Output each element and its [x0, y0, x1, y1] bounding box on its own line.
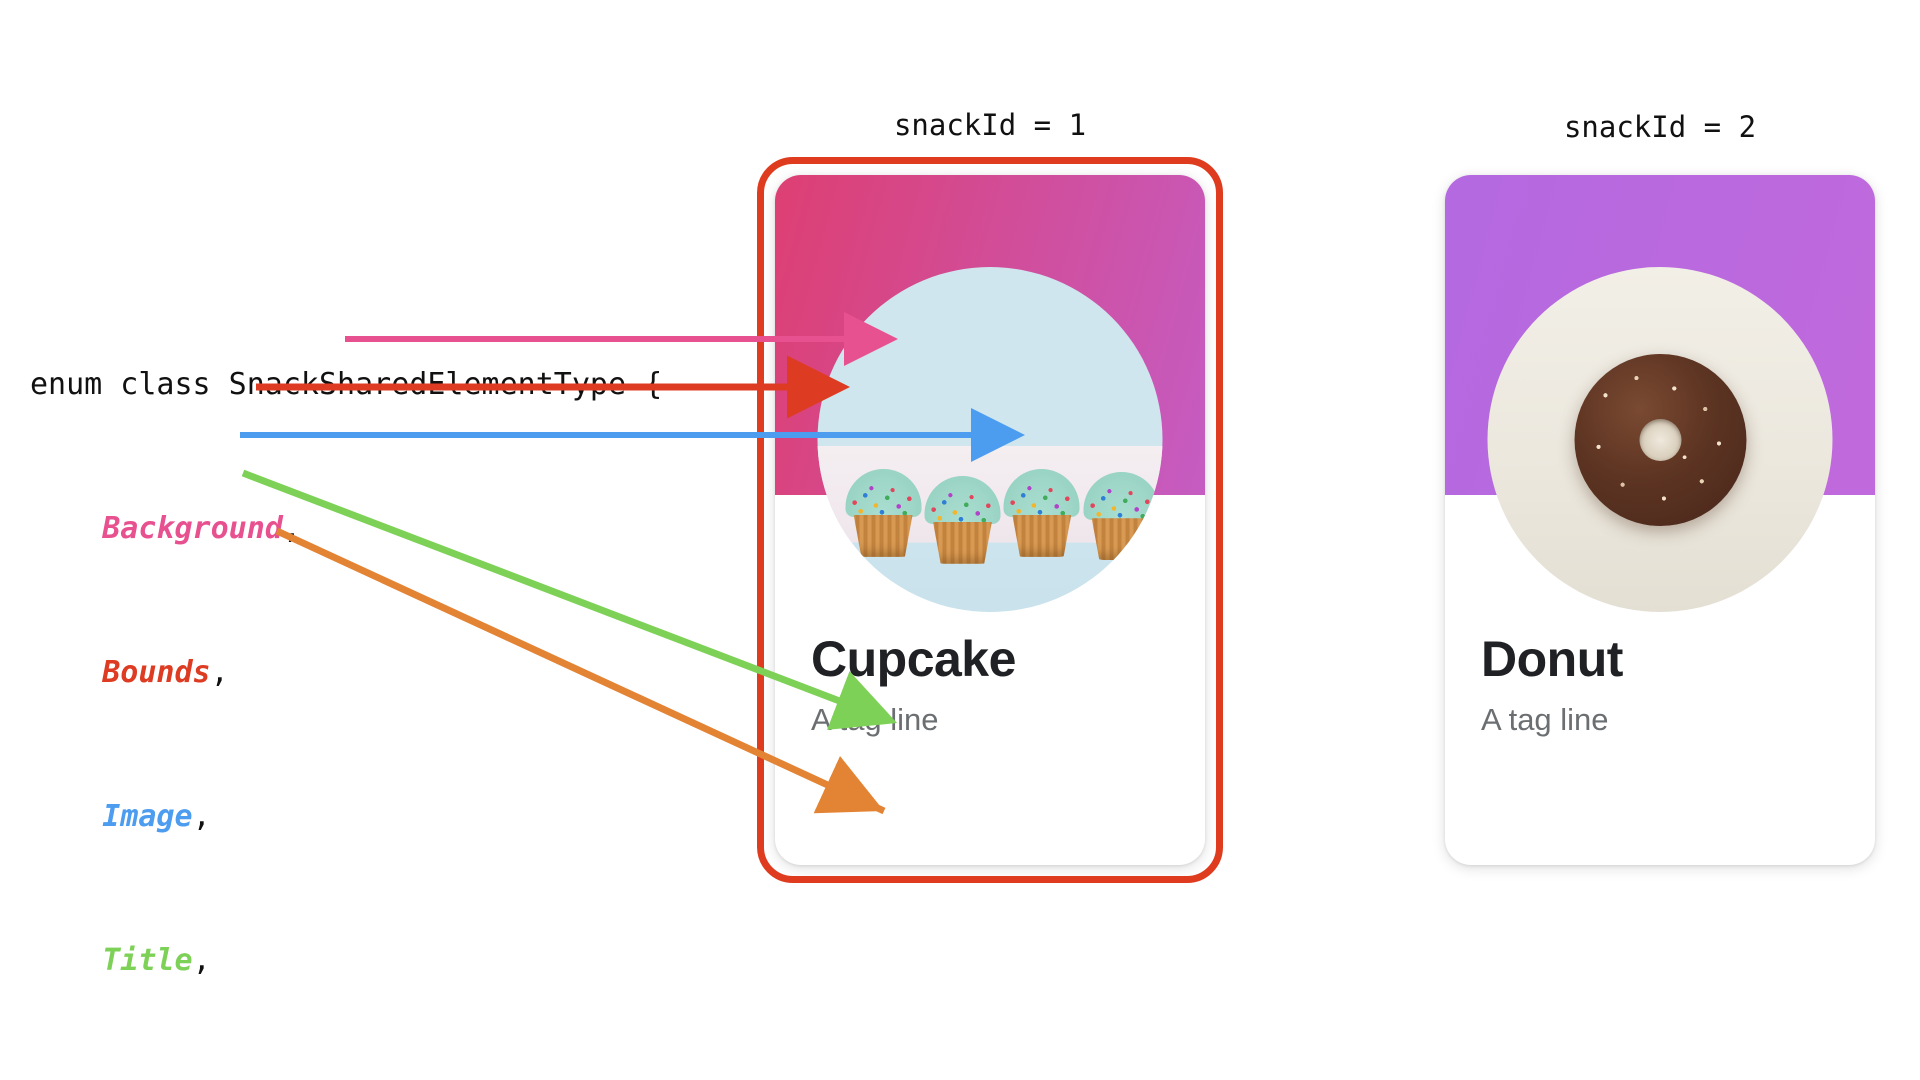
- cupcake-glyph: [845, 469, 921, 557]
- card-title: Cupcake: [811, 630, 1016, 688]
- donut-photo: [1488, 267, 1833, 612]
- code-line-member-1: Bounds,: [30, 649, 662, 697]
- comma-0: ,: [283, 511, 301, 546]
- enum-member-bounds: Bounds: [102, 655, 210, 690]
- card-image-cupcake: [818, 267, 1163, 612]
- cupcake-glyph: [1004, 469, 1080, 557]
- card-image-donut: [1488, 267, 1833, 612]
- donut-hole: [1639, 419, 1681, 461]
- donut-glyph: [1574, 354, 1746, 526]
- enum-member-background: Background: [102, 511, 283, 546]
- code-listing: enum class SnackSharedElementType { Back…: [30, 265, 662, 1080]
- card-label-snackid-2: snackId = 2: [1564, 110, 1756, 144]
- snack-card-donut[interactable]: Donut A tag line: [1445, 175, 1875, 865]
- comma-1: ,: [211, 655, 229, 690]
- enum-member-title: Title: [102, 943, 192, 978]
- diagram-canvas: enum class SnackSharedElementType { Back…: [0, 0, 1920, 1080]
- code-line-member-2: Image,: [30, 793, 662, 841]
- card-tagline: A tag line: [1481, 702, 1609, 738]
- card-label-snackid-1: snackId = 1: [894, 108, 1086, 142]
- comma-3: ,: [193, 943, 211, 978]
- code-line-header: enum class SnackSharedElementType {: [30, 361, 662, 409]
- cupcakes-photo: [818, 267, 1163, 612]
- enum-member-image: Image: [102, 799, 192, 834]
- snack-card-cupcake[interactable]: Cupcake A tag line: [775, 175, 1205, 865]
- cupcake-glyph: [924, 476, 1000, 564]
- card-tagline: A tag line: [811, 702, 939, 738]
- code-line-member-3: Title,: [30, 937, 662, 985]
- comma-2: ,: [193, 799, 211, 834]
- cupcake-glyph: [1083, 472, 1159, 560]
- code-line-member-0: Background,: [30, 505, 662, 553]
- card-title: Donut: [1481, 630, 1623, 688]
